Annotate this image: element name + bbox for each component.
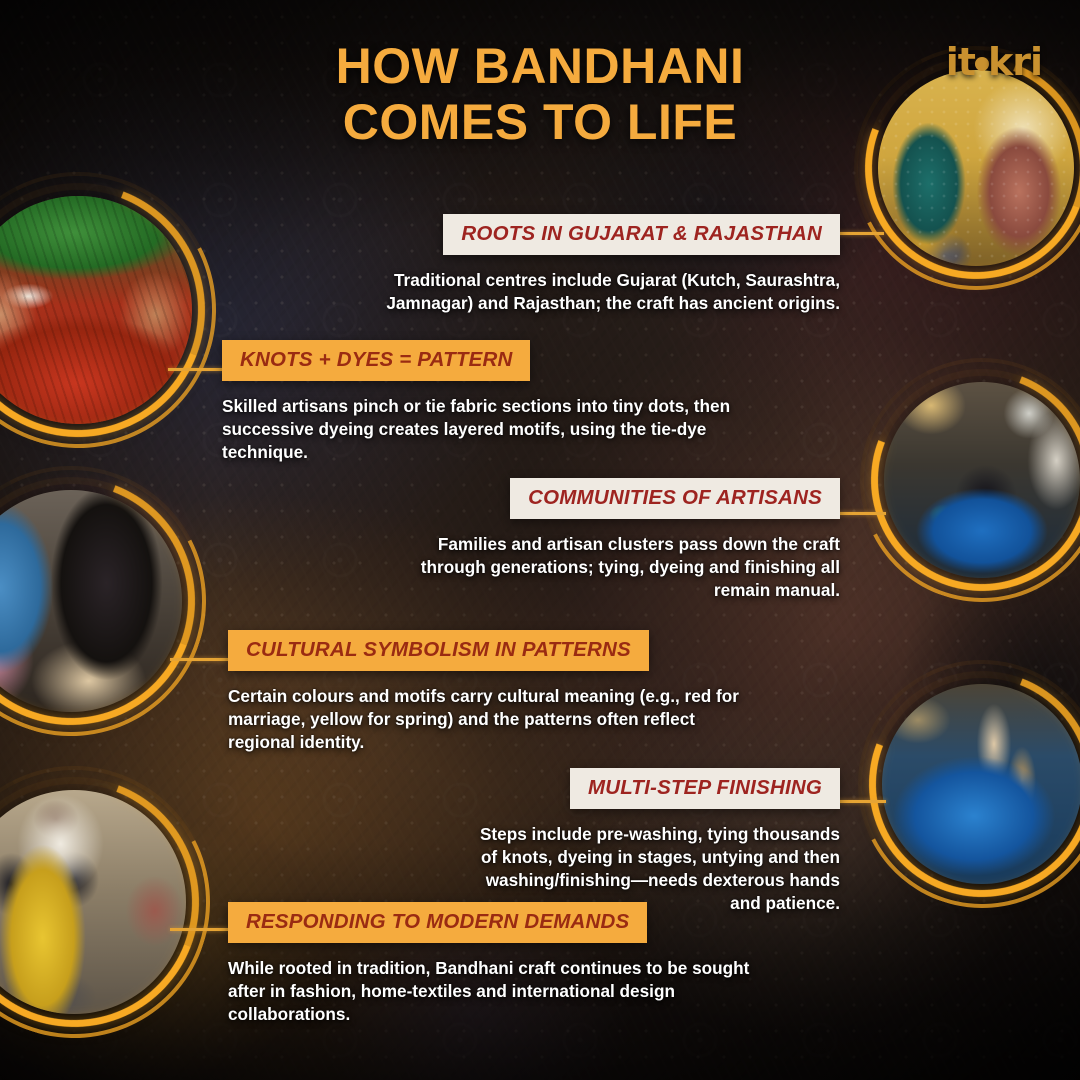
section-body-roots: Traditional centres include Gujarat (Kut… — [360, 269, 840, 315]
photo-medallion-hands-red-fabric — [0, 196, 192, 424]
brand-logo-text-part1: it — [946, 40, 975, 84]
connector-line-symbolism — [170, 658, 228, 661]
section-knots-dyes-pattern: KNOTS + DYES = PATTERN Skilled artisans … — [222, 340, 742, 464]
section-cultural-symbolism-in-patterns: CULTURAL SYMBOLISM IN PATTERNS Certain c… — [228, 630, 748, 754]
brand-logo-text-part2: kri — [988, 40, 1042, 84]
section-label-communities: COMMUNITIES OF ARTISANS — [510, 478, 840, 519]
infographic-canvas: itkri HOW BANDHANI COMES TO LIFE — [0, 0, 1080, 1080]
section-communities-of-artisans: COMMUNITIES OF ARTISANS Families and art… — [400, 478, 840, 602]
section-label-roots: ROOTS IN GUJARAT & RAJASTHAN — [443, 214, 840, 255]
connector-line-modern — [170, 928, 228, 931]
page-title-line-1: HOW BANDHANI — [0, 38, 1080, 94]
photo-medallion-yellow-dyeing — [0, 790, 186, 1014]
photo-medallion-vat-bundles — [882, 684, 1080, 884]
section-multi-step-finishing: MULTI-STEP FINISHING Steps include pre-w… — [470, 768, 840, 915]
page-title-line-2: COMES TO LIFE — [0, 94, 1080, 150]
photo-medallion-blue-dye-tub — [884, 382, 1080, 578]
section-body-symbolism: Certain colours and motifs carry cultura… — [228, 685, 748, 754]
brand-logo-dot-icon — [975, 57, 989, 71]
brand-logo-itokri[interactable]: itkri — [946, 40, 1042, 84]
section-roots-in-gujarat-rajasthan: ROOTS IN GUJARAT & RAJASTHAN Traditional… — [360, 214, 840, 315]
section-body-finishing: Steps include pre-washing, tying thousan… — [470, 823, 840, 915]
connector-line-knots — [168, 368, 224, 371]
section-body-knots: Skilled artisans pinch or tie fabric sec… — [222, 395, 742, 464]
connector-line-communities — [834, 512, 886, 515]
connector-line-finishing — [834, 800, 886, 803]
section-label-symbolism: CULTURAL SYMBOLISM IN PATTERNS — [228, 630, 649, 671]
page-title: HOW BANDHANI COMES TO LIFE — [0, 38, 1080, 150]
section-label-modern: RESPONDING TO MODERN DEMANDS — [228, 902, 647, 943]
section-body-modern: While rooted in tradition, Bandhani craf… — [228, 957, 773, 1026]
section-label-knots: KNOTS + DYES = PATTERN — [222, 340, 530, 381]
section-responding-to-modern-demands: RESPONDING TO MODERN DEMANDS While roote… — [228, 902, 773, 1026]
photo-medallion-woman-with-bundle — [0, 490, 182, 712]
section-body-communities: Families and artisan clusters pass down … — [400, 533, 840, 602]
section-label-finishing: MULTI-STEP FINISHING — [570, 768, 840, 809]
